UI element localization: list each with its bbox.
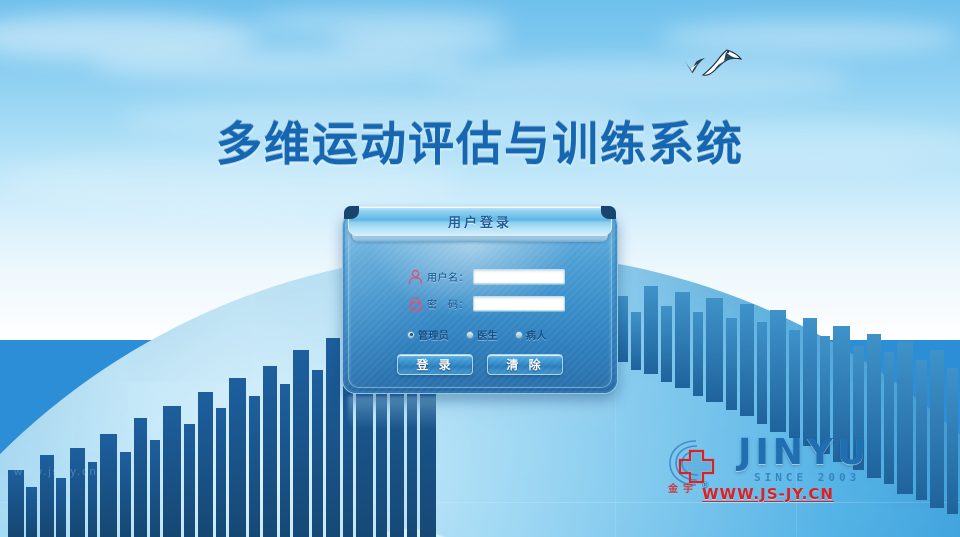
login-form: 用户名： 密 码： bbox=[343, 248, 617, 375]
password-label: 密 码： bbox=[427, 296, 473, 311]
login-actions: 登 录 清 除 bbox=[343, 354, 617, 375]
page-title: 多维运动评估与训练系统 bbox=[0, 108, 960, 174]
role-radio-group: 管理员 医生 病人 bbox=[343, 327, 617, 342]
username-label: 用户名： bbox=[427, 269, 473, 284]
clear-button[interactable]: 清 除 bbox=[487, 354, 563, 375]
role-option-patient[interactable]: 病人 bbox=[515, 327, 547, 342]
login-button-label: 登 录 bbox=[416, 356, 453, 373]
role-label-patient: 病人 bbox=[526, 327, 547, 342]
brand-name: JINYU bbox=[738, 435, 870, 471]
radio-dot-icon bbox=[407, 331, 415, 339]
password-row: 密 码： bbox=[343, 294, 617, 313]
panel-header-lip bbox=[352, 235, 608, 242]
password-input[interactable] bbox=[473, 296, 565, 311]
username-input[interactable] bbox=[473, 269, 565, 284]
brand-logo: JINYU SINCE 2003 金宇 ® WWW.JS-JY.CN bbox=[666, 433, 956, 505]
radio-dot-icon bbox=[515, 331, 523, 339]
role-label-doctor: 医生 bbox=[477, 327, 498, 342]
brand-since: SINCE 2003 bbox=[754, 471, 860, 484]
lock-icon bbox=[407, 296, 424, 312]
brand-url[interactable]: WWW.JS-JY.CN bbox=[702, 485, 834, 503]
header-notch-right bbox=[601, 206, 616, 219]
username-row: 用户名： bbox=[343, 267, 617, 286]
login-panel: 用户名： 密 码： bbox=[342, 211, 618, 394]
clear-button-label: 清 除 bbox=[506, 356, 543, 373]
panel-header: 用户登录 bbox=[348, 206, 612, 236]
user-icon bbox=[407, 269, 424, 285]
panel-header-title: 用户登录 bbox=[448, 212, 512, 231]
brand-name-cn: 金宇 bbox=[668, 480, 698, 495]
login-button[interactable]: 登 录 bbox=[397, 354, 473, 375]
role-label-admin: 管理员 bbox=[418, 327, 449, 342]
radio-dot-icon bbox=[466, 331, 474, 339]
login-screen: 多维运动评估与训练系统 用户名： bbox=[0, 0, 960, 537]
role-option-admin[interactable]: 管理员 bbox=[407, 327, 449, 342]
role-option-doctor[interactable]: 医生 bbox=[466, 327, 498, 342]
